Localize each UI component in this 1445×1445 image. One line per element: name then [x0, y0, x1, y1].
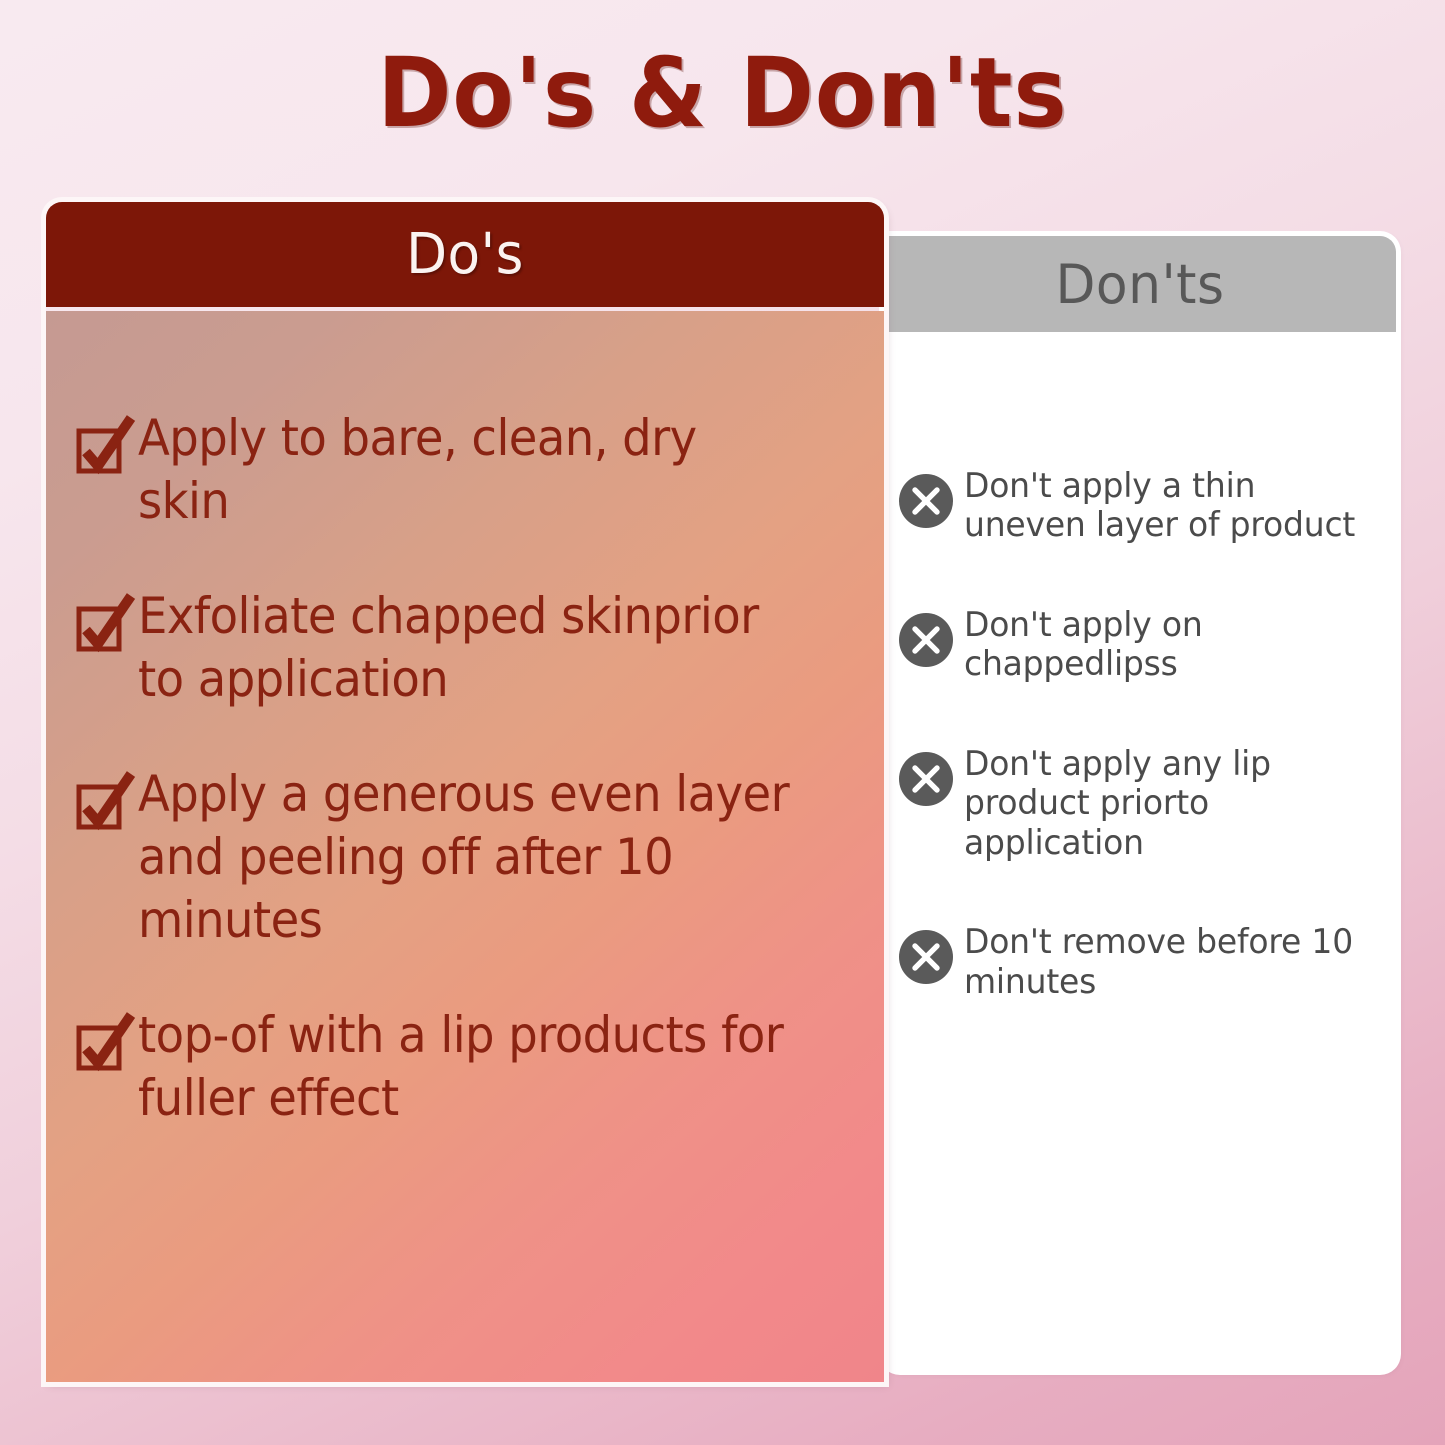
list-item-label: Apply to bare, clean, dry skin: [138, 407, 795, 533]
list-item: Apply a generous even layer and peeling …: [74, 763, 844, 952]
dos-card-header: Do's: [46, 202, 884, 307]
list-item: Apply to bare, clean, dry skin: [74, 407, 844, 533]
list-item-label: Exfoliate chapped skinprior to applicati…: [138, 585, 795, 711]
list-item: Exfoliate chapped skinprior to applicati…: [74, 585, 844, 711]
list-item-label: top-of with a lip products for fuller ef…: [138, 1004, 795, 1130]
list-item: top-of with a lip products for fuller ef…: [74, 1004, 844, 1130]
list-item-label: Apply a generous even layer and peeling …: [138, 763, 795, 952]
page-title: Do's & Don'ts: [51, 42, 1395, 146]
circle-x-icon: [898, 473, 954, 529]
list-item: Don't apply any lip product priorto appl…: [898, 745, 1382, 863]
list-item: Don't apply a thin uneven layer of produ…: [898, 467, 1382, 546]
list-item-label: Don't apply on chappedlipss: [964, 606, 1369, 685]
donts-list: Don't apply a thin uneven layer of produ…: [884, 332, 1396, 1062]
donts-card-header: Don'ts: [884, 236, 1396, 332]
checkbox-checked-icon: [74, 1012, 136, 1074]
list-item-label: Don't remove before 10 minutes: [964, 923, 1369, 1002]
checkbox-checked-icon: [74, 415, 136, 477]
dos-and-donts-poster: Do's & Don'ts Don'ts Don't apply a thin …: [0, 0, 1445, 1445]
donts-card: Don'ts Don't apply a thin uneven layer o…: [884, 236, 1396, 1370]
list-item: Don't apply on chappedlipss: [898, 606, 1382, 685]
checkbox-checked-icon: [74, 771, 136, 833]
dos-header-label: Do's: [406, 222, 524, 287]
list-item-label: Don't apply a thin uneven layer of produ…: [964, 467, 1369, 546]
circle-x-icon: [898, 612, 954, 668]
dos-list: Apply to bare, clean, dry skin Exfoliate…: [46, 311, 884, 1382]
checkbox-checked-icon: [74, 593, 136, 655]
donts-header-label: Don'ts: [1056, 253, 1225, 316]
list-item-label: Don't apply any lip product priorto appl…: [964, 745, 1369, 863]
dos-card: Do's Apply to bare, clean, dry skin: [46, 202, 884, 1382]
circle-x-icon: [898, 751, 954, 807]
circle-x-icon: [898, 929, 954, 985]
list-item: Don't remove before 10 minutes: [898, 923, 1382, 1002]
